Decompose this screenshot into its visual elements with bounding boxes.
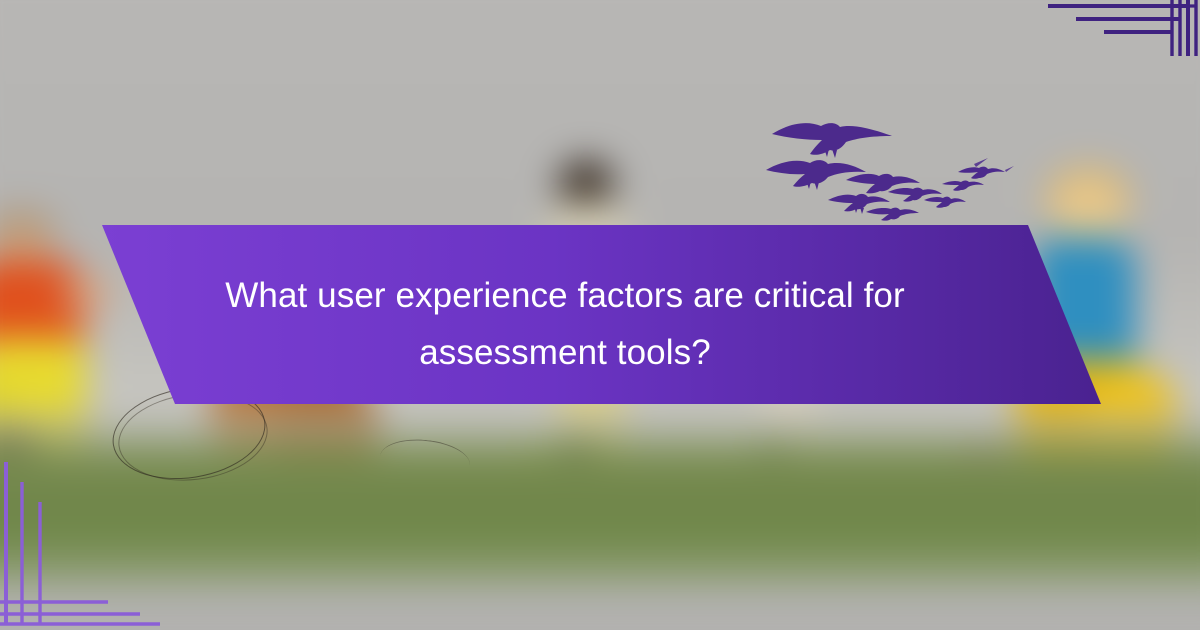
corner-bracket-bottom-left <box>0 450 160 630</box>
corner-bracket-top-right <box>1040 0 1200 56</box>
social-card: What user experience factors are critica… <box>0 0 1200 630</box>
flying-birds-flock <box>766 112 1016 227</box>
page-title: What user experience factors are critica… <box>150 268 980 381</box>
child-orange-arm <box>64 278 110 310</box>
